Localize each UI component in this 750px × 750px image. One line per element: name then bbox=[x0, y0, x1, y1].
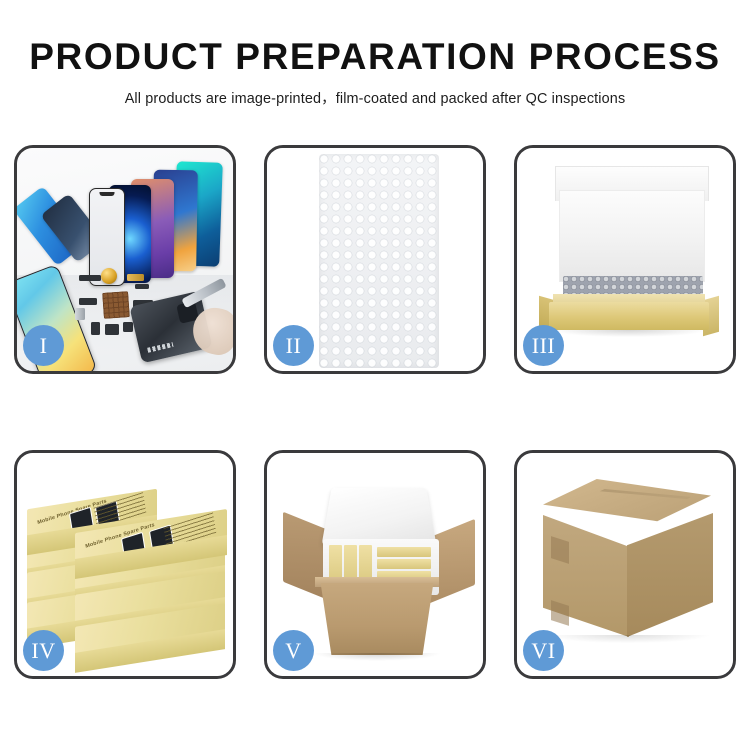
process-step-grid: I II III bbox=[14, 145, 736, 679]
step-badge-1: I bbox=[23, 325, 64, 366]
packed-retail-box-4 bbox=[377, 547, 431, 557]
box-shadow bbox=[553, 330, 705, 337]
step-badge-4: IV bbox=[23, 630, 64, 671]
foam-box-lid bbox=[321, 488, 436, 546]
process-step-2: II bbox=[264, 145, 486, 374]
step-badge-3: III bbox=[523, 325, 564, 366]
small-part-9 bbox=[123, 322, 133, 332]
step-badge-2: II bbox=[273, 325, 314, 366]
step-badge-5: V bbox=[273, 630, 314, 671]
carton-right-face bbox=[627, 513, 713, 637]
process-step-5: V bbox=[264, 450, 486, 679]
small-part-8 bbox=[105, 324, 119, 335]
page-subtitle: All products are image-printed，film-coat… bbox=[0, 87, 750, 108]
stacked-box-r3 bbox=[75, 615, 225, 659]
step-badge-6: VI bbox=[523, 630, 564, 671]
carton-shadow bbox=[547, 635, 709, 643]
small-part-2 bbox=[127, 274, 144, 281]
vibration-motor-icon bbox=[101, 268, 117, 284]
process-step-3: III bbox=[514, 145, 736, 374]
small-part-4 bbox=[79, 298, 97, 305]
small-part-3 bbox=[135, 284, 149, 289]
packed-retail-box-5 bbox=[377, 559, 431, 569]
foam-sheet bbox=[559, 190, 705, 282]
carton-shadow bbox=[313, 653, 441, 661]
chip-grid-icon bbox=[102, 291, 130, 319]
small-part-5 bbox=[75, 308, 85, 320]
carton-body bbox=[317, 583, 437, 655]
box-front-panel bbox=[549, 302, 709, 330]
printed-box-top-right: Mobile Phone Spare Parts bbox=[75, 521, 227, 567]
process-step-1: I bbox=[14, 145, 236, 374]
phone-notch-icon bbox=[100, 192, 115, 196]
page-header: PRODUCT PREPARATION PROCESS All products… bbox=[0, 0, 750, 108]
process-step-4: Mobile Phone Spare Parts Mobile Phone Sp… bbox=[14, 450, 236, 679]
process-step-6: VI bbox=[514, 450, 736, 679]
chassis-marking bbox=[147, 342, 173, 353]
bubble-wrap-bag bbox=[319, 154, 439, 368]
small-part-7 bbox=[91, 322, 100, 335]
page-title: PRODUCT PREPARATION PROCESS bbox=[0, 38, 750, 77]
small-part-1 bbox=[79, 275, 101, 281]
